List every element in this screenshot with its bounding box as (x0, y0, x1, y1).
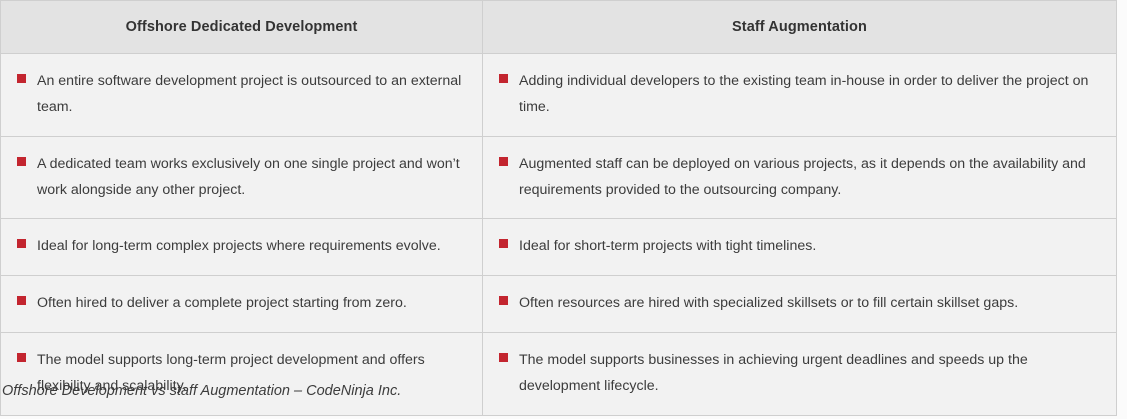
red-square-bullet-icon (499, 74, 508, 83)
red-square-bullet-icon (499, 239, 508, 248)
column-header-offshore-dedicated-development: Offshore Dedicated Development (1, 1, 483, 54)
table-row: Often hired to deliver a complete projec… (1, 276, 1117, 333)
table-body: An entire software development project i… (1, 54, 1117, 416)
cell-text: A dedicated team works exclusively on on… (37, 152, 466, 204)
table-header: Offshore Dedicated Development Staff Aug… (1, 1, 1117, 54)
bullet-item: Ideal for long-term complex projects whe… (17, 234, 466, 260)
red-square-bullet-icon (17, 157, 26, 166)
table-cell-left: The model supports long-term project dev… (1, 333, 483, 416)
red-square-bullet-icon (17, 353, 26, 362)
table-cell-right: The model supports businesses in achievi… (483, 333, 1117, 416)
table-cell-left: A dedicated team works exclusively on on… (1, 136, 483, 219)
table-caption: Offshore Development vs staff Augmentati… (2, 381, 401, 401)
table-cell-left: Ideal for long-term complex projects whe… (1, 219, 483, 276)
table-row: The model supports long-term project dev… (1, 333, 1117, 416)
table-cell-right: Often resources are hired with specializ… (483, 276, 1117, 333)
red-square-bullet-icon (499, 296, 508, 305)
table-header-row: Offshore Dedicated Development Staff Aug… (1, 1, 1117, 54)
red-square-bullet-icon (499, 157, 508, 166)
table-row: A dedicated team works exclusively on on… (1, 136, 1117, 219)
column-header-staff-augmentation: Staff Augmentation (483, 1, 1117, 54)
table-row: Ideal for long-term complex projects whe… (1, 219, 1117, 276)
bullet-item: A dedicated team works exclusively on on… (17, 152, 466, 204)
red-square-bullet-icon (17, 296, 26, 305)
cell-text: An entire software development project i… (37, 69, 466, 121)
red-square-bullet-icon (17, 74, 26, 83)
cell-text: The model supports businesses in achievi… (519, 348, 1100, 400)
bullet-item: Often resources are hired with specializ… (499, 291, 1100, 317)
red-square-bullet-icon (499, 353, 508, 362)
bullet-item: An entire software development project i… (17, 69, 466, 121)
table-cell-right: Adding individual developers to the exis… (483, 54, 1117, 137)
cell-text: Ideal for long-term complex projects whe… (37, 234, 466, 260)
bullet-item: The model supports businesses in achievi… (499, 348, 1100, 400)
red-square-bullet-icon (17, 239, 26, 248)
cell-text: Adding individual developers to the exis… (519, 69, 1100, 121)
bullet-item: Augmented staff can be deployed on vario… (499, 152, 1100, 204)
comparison-table-page: Offshore Dedicated Development Staff Aug… (0, 0, 1127, 419)
bullet-item: Adding individual developers to the exis… (499, 69, 1100, 121)
table-cell-left: Often hired to deliver a complete projec… (1, 276, 483, 333)
cell-text: Often hired to deliver a complete projec… (37, 291, 466, 317)
table-cell-left: An entire software development project i… (1, 54, 483, 137)
table-cell-right: Ideal for short-term projects with tight… (483, 219, 1117, 276)
table-cell-right: Augmented staff can be deployed on vario… (483, 136, 1117, 219)
bullet-item: Ideal for short-term projects with tight… (499, 234, 1100, 260)
bullet-item: Often hired to deliver a complete projec… (17, 291, 466, 317)
cell-text: Ideal for short-term projects with tight… (519, 234, 1100, 260)
cell-text: Often resources are hired with specializ… (519, 291, 1100, 317)
table-row: An entire software development project i… (1, 54, 1117, 137)
offshore-vs-staff-augmentation-table: Offshore Dedicated Development Staff Aug… (0, 0, 1117, 416)
cell-text: Augmented staff can be deployed on vario… (519, 152, 1100, 204)
